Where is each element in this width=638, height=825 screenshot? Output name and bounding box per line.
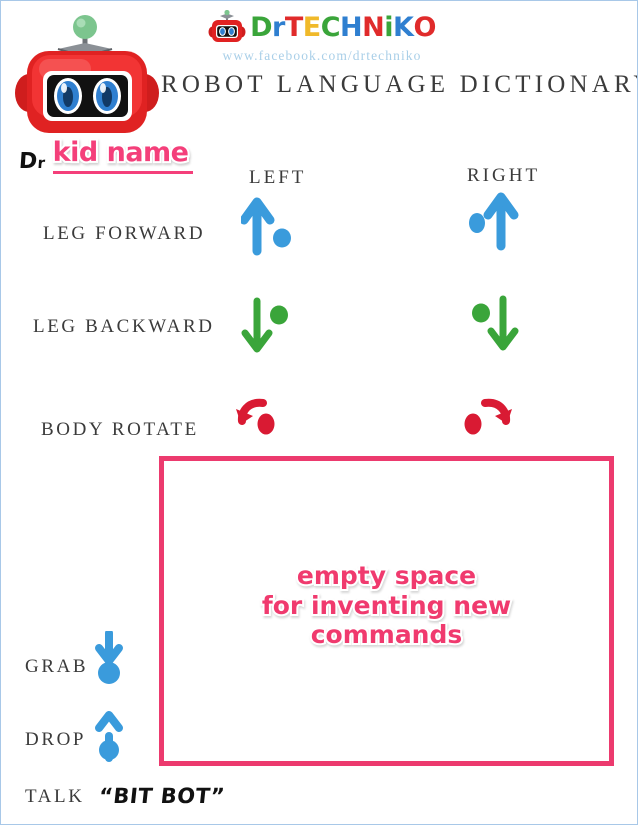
- brand-block: DrTECHNiKO www.facebook.com/drtechniko: [197, 7, 447, 64]
- arrow-up-from-dot-icon: [93, 706, 163, 766]
- brand-letter-0: D: [250, 14, 272, 41]
- dr-prefix-label: Dr: [18, 149, 46, 174]
- brand-wordmark: DrTECHNiKO: [250, 14, 436, 41]
- row-label-body-rotate: BODY ROTATE: [41, 419, 199, 441]
- row-label-grab: GRAB: [25, 656, 88, 678]
- brand-letter-1: r: [272, 14, 285, 41]
- column-header-left: LEFT: [249, 167, 306, 189]
- arrow-down-to-dot-icon: [93, 631, 163, 691]
- brand-letter-8: K: [393, 14, 413, 41]
- brand-letter-9: O: [413, 14, 435, 41]
- page-title: ROBOT LANGUAGE DICTIONARY: [161, 71, 638, 99]
- row-label-leg-backward: LEG BACKWARD: [33, 316, 215, 338]
- row-label-talk: TALK: [25, 786, 85, 808]
- empty-command-box[interactable]: empty space for inventing new commands: [159, 456, 614, 766]
- column-header-right: RIGHT: [467, 165, 540, 187]
- row-label-leg-forward: LEG FORWARD: [43, 223, 205, 245]
- arrow-up-dot-left-icon: [461, 191, 531, 251]
- kid-name-underline: [53, 171, 193, 174]
- rotate-clockwise-dot-icon: [463, 393, 533, 453]
- empty-box-line-3: commands: [164, 620, 609, 650]
- brand-row: DrTECHNiKO: [197, 7, 447, 47]
- arrow-down-dot-left-icon: [469, 295, 539, 355]
- rotate-counterclockwise-dot-icon: [233, 393, 303, 453]
- empty-box-line-2: for inventing new: [164, 591, 609, 621]
- brand-letter-3: E: [303, 14, 321, 41]
- name-line: Dr kid name: [19, 137, 189, 174]
- brand-letter-2: T: [285, 14, 303, 41]
- kid-name-placeholder: kid name: [53, 137, 189, 168]
- empty-box-text: empty space for inventing new commands: [164, 561, 609, 650]
- kid-name-field[interactable]: kid name: [53, 137, 189, 174]
- empty-box-line-1: empty space: [164, 561, 609, 591]
- arrow-up-dot-right-icon: [241, 196, 311, 256]
- brand-letter-4: C: [321, 14, 340, 41]
- talk-phrase: “BIT BOT”: [98, 784, 226, 808]
- row-label-drop: DROP: [25, 729, 86, 751]
- arrow-down-dot-right-icon: [241, 297, 311, 357]
- facebook-url: www.facebook.com/drtechniko: [197, 48, 447, 64]
- brand-letter-7: i: [384, 14, 393, 41]
- worksheet-page: DrTECHNiKO www.facebook.com/drtechniko R…: [0, 0, 638, 825]
- small-robot-head-icon: [208, 10, 246, 44]
- dr-prefix-small: r: [37, 154, 46, 172]
- brand-letter-5: H: [340, 14, 362, 41]
- robot-head-icon: [13, 9, 163, 139]
- brand-letter-6: N: [362, 14, 384, 41]
